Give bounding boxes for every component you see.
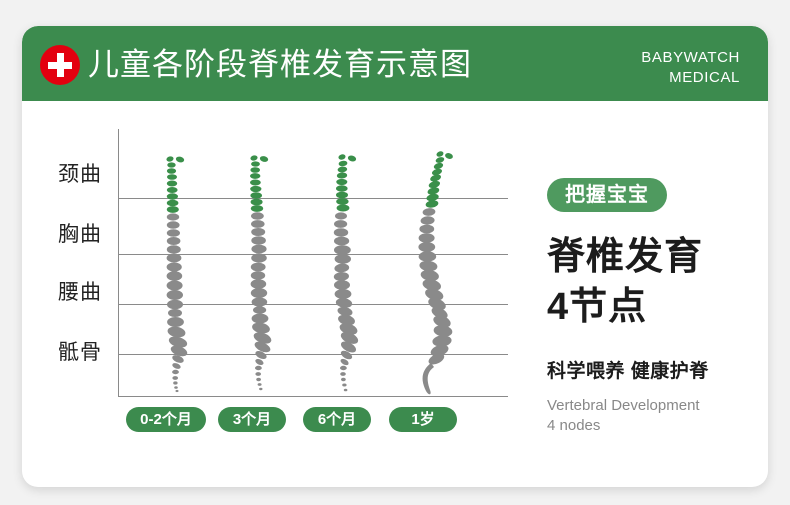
- y-axis-labels: 颈曲 胸曲 腰曲 骶骨: [40, 101, 120, 401]
- plot-area: [118, 129, 508, 397]
- cross-bar-vertical: [57, 53, 64, 77]
- spine-figure-6-months: [310, 129, 396, 397]
- side-heading-line-2: 4节点: [547, 284, 647, 330]
- brand-logotype: BABYWATCH MEDICAL: [641, 48, 740, 88]
- x-label-6-months[interactable]: 6个月: [303, 407, 371, 432]
- medical-cross-icon: [40, 45, 80, 85]
- info-card: 儿童各阶段脊椎发育示意图 BABYWATCH MEDICAL 颈曲 胸曲 腰曲 …: [22, 26, 768, 487]
- spine-figure-3-months: [225, 129, 311, 397]
- side-english-text: Vertebral Development 4 nodes: [547, 396, 700, 436]
- x-axis-labels: 0-2个月 3个月 6个月 1岁: [118, 407, 508, 439]
- y-axis-label-thoracic: 胸曲: [40, 218, 120, 248]
- page-root: 儿童各阶段脊椎发育示意图 BABYWATCH MEDICAL 颈曲 胸曲 腰曲 …: [0, 0, 790, 505]
- x-label-1-year[interactable]: 1岁: [389, 407, 457, 432]
- brand-line-1: BABYWATCH: [641, 48, 740, 68]
- brand-line-2: MEDICAL: [641, 68, 740, 88]
- x-label-3-months[interactable]: 3个月: [218, 407, 286, 432]
- card-header: 儿童各阶段脊椎发育示意图 BABYWATCH MEDICAL: [22, 26, 768, 101]
- y-axis-label-sacrum: 骶骨: [40, 336, 120, 366]
- side-heading-line-1: 脊椎发育: [547, 234, 703, 280]
- spine-figure-1-year: [395, 129, 481, 397]
- side-panel: 把握宝宝 脊椎发育 4节点 科学喂养 健康护脊 Vertebral Develo…: [527, 101, 768, 487]
- side-english-line-2: 4 nodes: [547, 416, 700, 436]
- y-axis-label-cervical: 颈曲: [40, 158, 120, 188]
- page-title: 儿童各阶段脊椎发育示意图: [88, 45, 472, 85]
- spine-development-chart: 颈曲 胸曲 腰曲 骶骨: [22, 101, 522, 487]
- y-axis-line: [118, 129, 119, 397]
- side-badge: 把握宝宝: [547, 178, 667, 212]
- y-axis-label-lumbar: 腰曲: [40, 276, 120, 306]
- side-english-line-1: Vertebral Development: [547, 396, 700, 416]
- spine-figure-0-2-months: [140, 129, 226, 397]
- x-label-0-2-months[interactable]: 0-2个月: [126, 407, 206, 432]
- side-subtitle: 科学喂养 健康护脊: [547, 359, 709, 385]
